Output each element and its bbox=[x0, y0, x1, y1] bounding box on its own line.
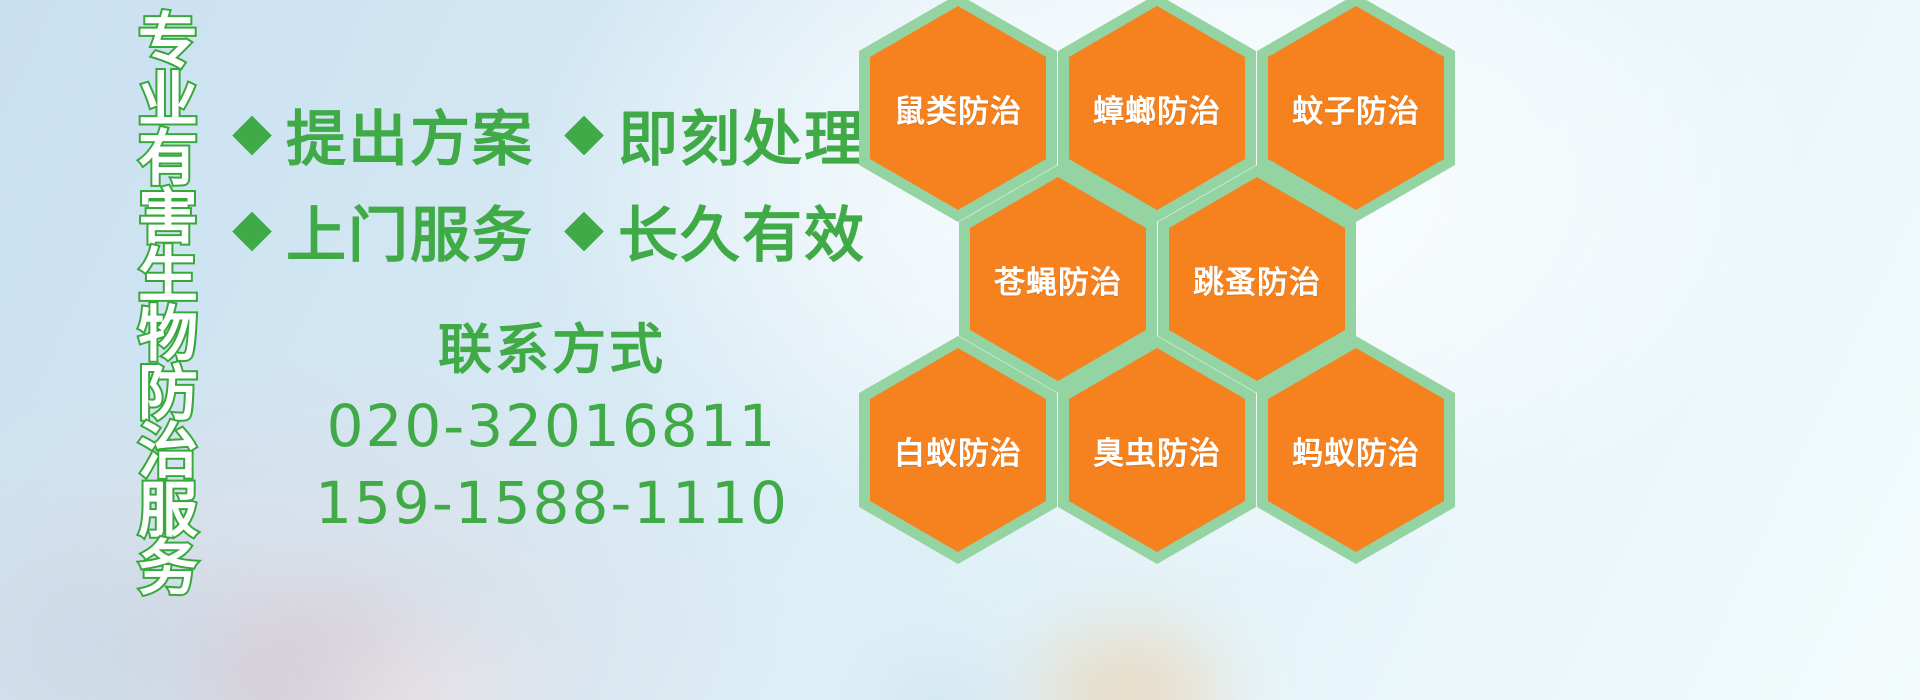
hex-cell-termite[interactable]: 白蚁防治 bbox=[859, 336, 1057, 564]
vertical-title-char: 生 bbox=[138, 248, 198, 306]
slogan-row: ◆ 提出方案 ◆ 即刻处理 bbox=[232, 86, 872, 182]
vertical-title: 专 业 有 害 生 物 防 治 服 务 bbox=[112, 14, 224, 600]
background-blur-blob bbox=[880, 660, 1000, 700]
background-blur-blob bbox=[1040, 630, 1220, 700]
vertical-title-char: 专 bbox=[138, 14, 198, 72]
hex-cell-label: 蚊子防治 bbox=[1292, 86, 1420, 131]
background-blur-blob bbox=[180, 600, 440, 700]
service-hexagon-grid: 鼠类防治 蟑螂防治 蚊子防治 苍蝇防治 跳蚤防治 白蚁防治 bbox=[855, 0, 1475, 558]
vertical-title-char: 物 bbox=[138, 307, 198, 365]
hex-cell-label: 苍蝇防治 bbox=[994, 257, 1122, 302]
hex-cell-label: 跳蚤防治 bbox=[1193, 257, 1321, 302]
vertical-title-char: 害 bbox=[138, 190, 198, 248]
contact-block: 联系方式 020-32016811 159-1588-1110 bbox=[232, 318, 872, 543]
hex-cell-label: 蟑螂防治 bbox=[1093, 86, 1221, 131]
vertical-title-char: 服 bbox=[138, 483, 198, 541]
diamond-bullet-icon: ◆ bbox=[232, 106, 272, 158]
slogan-text: 即刻处理 bbox=[618, 91, 866, 178]
vertical-title-char: 业 bbox=[138, 73, 198, 131]
hex-cell-bedbug[interactable]: 臭虫防治 bbox=[1058, 336, 1256, 564]
vertical-title-char: 务 bbox=[138, 541, 198, 599]
slogan-text: 长久有效 bbox=[618, 187, 866, 274]
vertical-title-char: 治 bbox=[138, 424, 198, 482]
slogan-text: 提出方案 bbox=[286, 91, 534, 178]
contact-phone-landline[interactable]: 020-32016811 bbox=[232, 388, 872, 466]
diamond-bullet-icon: ◆ bbox=[564, 106, 604, 158]
vertical-title-char: 有 bbox=[138, 131, 198, 189]
hex-cell-label: 鼠类防治 bbox=[894, 86, 1022, 131]
vertical-title-char: 防 bbox=[138, 366, 198, 424]
hex-cell-label: 臭虫防治 bbox=[1093, 428, 1221, 473]
background-blur-blob bbox=[330, 640, 530, 700]
hex-cell-label: 白蚁防治 bbox=[894, 428, 1022, 473]
banner-stage: 专 业 有 害 生 物 防 治 服 务 ◆ 提出方案 ◆ 即刻处理 ◆ 上门服务… bbox=[0, 0, 1920, 700]
contact-title: 联系方式 bbox=[232, 318, 872, 382]
hex-cell-ant[interactable]: 蚂蚁防治 bbox=[1257, 336, 1455, 564]
diamond-bullet-icon: ◆ bbox=[232, 202, 272, 254]
hex-cell-label: 蚂蚁防治 bbox=[1292, 428, 1420, 473]
slogan-row: ◆ 上门服务 ◆ 长久有效 bbox=[232, 182, 872, 278]
contact-phone-mobile[interactable]: 159-1588-1110 bbox=[232, 465, 872, 543]
slogan-list: ◆ 提出方案 ◆ 即刻处理 ◆ 上门服务 ◆ 长久有效 bbox=[232, 86, 872, 278]
slogan-text: 上门服务 bbox=[286, 187, 534, 274]
diamond-bullet-icon: ◆ bbox=[564, 202, 604, 254]
